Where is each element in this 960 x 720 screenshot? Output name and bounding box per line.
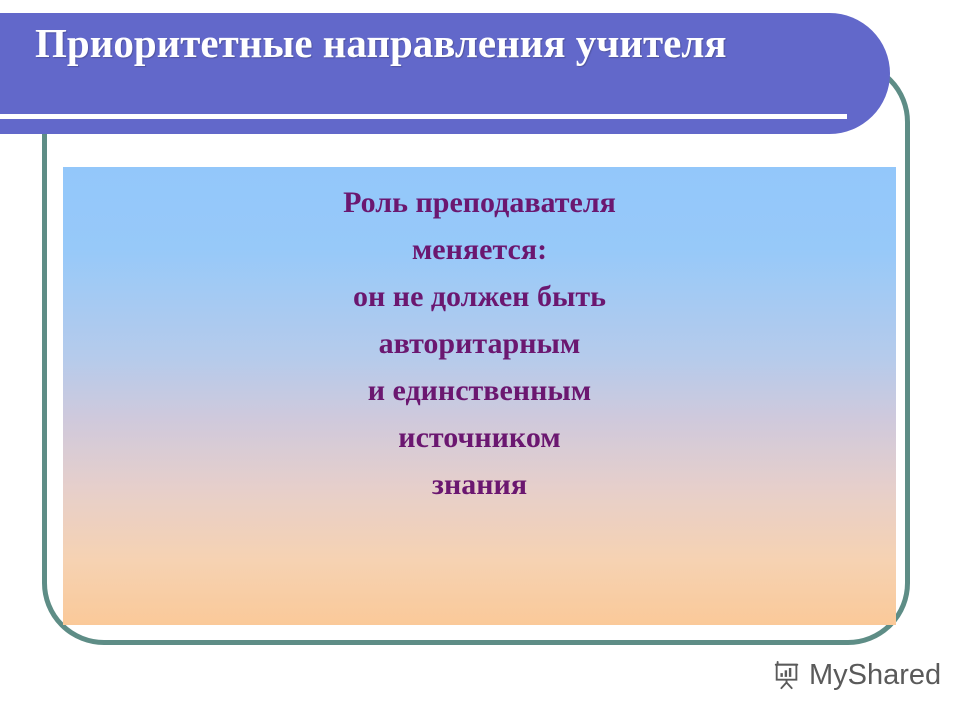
slide-canvas: Роль преподавателя меняется: он не долже… [0,0,960,720]
body-line: он не должен быть [63,273,896,320]
title-underline [0,114,847,119]
content-panel: Роль преподавателя меняется: он не долже… [63,167,896,625]
body-line: и единственным [63,367,896,414]
body-line: знания [63,461,896,508]
slide-title: Приоритетные направления учителя [35,19,835,68]
body-line: Роль преподавателя [63,179,896,226]
myshared-watermark: MyShared [772,660,941,690]
title-bar: Приоритетные направления учителя [0,13,890,134]
body-line: авторитарным [63,320,896,367]
presentation-board-icon [772,660,802,690]
myshared-label: MyShared [809,660,941,690]
body-line: источником [63,414,896,461]
body-line: меняется: [63,226,896,273]
body-text-block: Роль преподавателя меняется: он не долже… [63,179,896,508]
